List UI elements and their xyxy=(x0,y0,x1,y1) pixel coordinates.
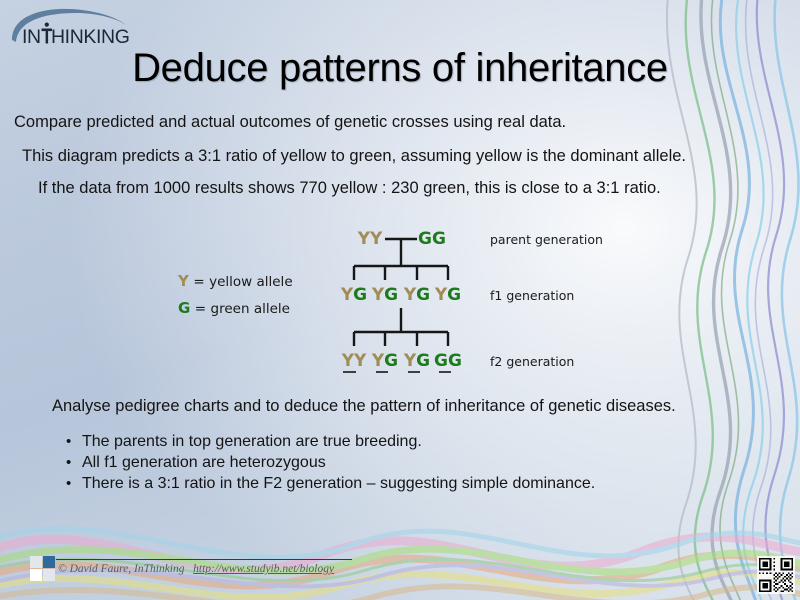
f2-genotype-3: YG xyxy=(403,351,430,371)
allele-legend: Y = yellow allele G = green allele xyxy=(178,268,293,322)
list-item: • There is a 3:1 ratio in the F2 generat… xyxy=(66,473,595,494)
bullet-text: There is a 3:1 ratio in the F2 generatio… xyxy=(82,473,595,494)
parent-left-genotype: YY xyxy=(357,229,383,249)
footer-credit: © David Faure, InThinking http://www.stu… xyxy=(58,563,334,575)
f1-generation-label: f1 generation xyxy=(490,288,574,303)
intro-paragraph-3: If the data from 1000 results shows 770 … xyxy=(38,178,661,198)
f2-genotype-2: YG xyxy=(371,351,398,371)
footer-credit-text: © David Faure, InThinking xyxy=(58,563,185,575)
bullet-marker-icon: • xyxy=(66,431,82,452)
footer-url-link[interactable]: http://www.studyib.net/biology xyxy=(193,563,334,575)
intro-paragraph-1: Compare predicted and actual outcomes of… xyxy=(14,112,566,132)
f1-generation-row: YG YG YG YG f1 generation xyxy=(340,285,574,305)
footer-divider xyxy=(56,559,352,560)
f2-genotype-4: GG xyxy=(434,351,462,371)
grid-squares-icon xyxy=(30,556,56,582)
legend-equals-green: = xyxy=(195,301,206,317)
f1-genotype-3: YG xyxy=(403,285,430,305)
legend-equals-yellow: = xyxy=(193,274,204,290)
legend-row-green: G = green allele xyxy=(178,295,293,322)
bullet-marker-icon: • xyxy=(66,473,82,494)
pedigree-paragraph: Analyse pedigree charts and to deduce th… xyxy=(52,396,676,416)
conclusion-bullet-list: • The parents in top generation are true… xyxy=(66,431,595,494)
legend-row-yellow: Y = yellow allele xyxy=(178,268,293,295)
legend-label-yellow: yellow allele xyxy=(209,274,293,290)
intro-paragraph-2: This diagram predicts a 3:1 ratio of yel… xyxy=(22,146,686,166)
list-item: • All f1 generation are heterozygous xyxy=(66,452,595,473)
f2-generation-label: f2 generation xyxy=(490,354,574,369)
bullet-marker-icon: • xyxy=(66,452,82,473)
f2-generation-row: YY YG YG GG f2 generation xyxy=(341,351,575,372)
parent-generation-label: parent generation xyxy=(490,232,603,247)
bullet-text: All f1 generation are heterozygous xyxy=(82,452,326,473)
f1-genotype-1: YG xyxy=(340,285,367,305)
inheritance-diagram: YY GG parent generation YG xyxy=(338,222,608,382)
qr-code-icon[interactable] xyxy=(757,556,795,594)
parent-right-genotype: GG xyxy=(418,229,446,249)
page-title: Deduce patterns of inheritance xyxy=(0,44,800,92)
legend-symbol-green: G xyxy=(178,299,190,317)
f1-genotype-4: YG xyxy=(434,285,461,305)
f1-genotype-2: YG xyxy=(371,285,398,305)
slide-canvas: IN HINKING Deduce patterns of inheritanc… xyxy=(0,0,800,600)
list-item: • The parents in top generation are true… xyxy=(66,431,595,452)
f2-genotype-1: YY xyxy=(341,351,367,371)
legend-label-green: green allele xyxy=(211,301,290,317)
bullet-text: The parents in top generation are true b… xyxy=(82,431,422,452)
legend-symbol-yellow: Y xyxy=(178,272,189,290)
